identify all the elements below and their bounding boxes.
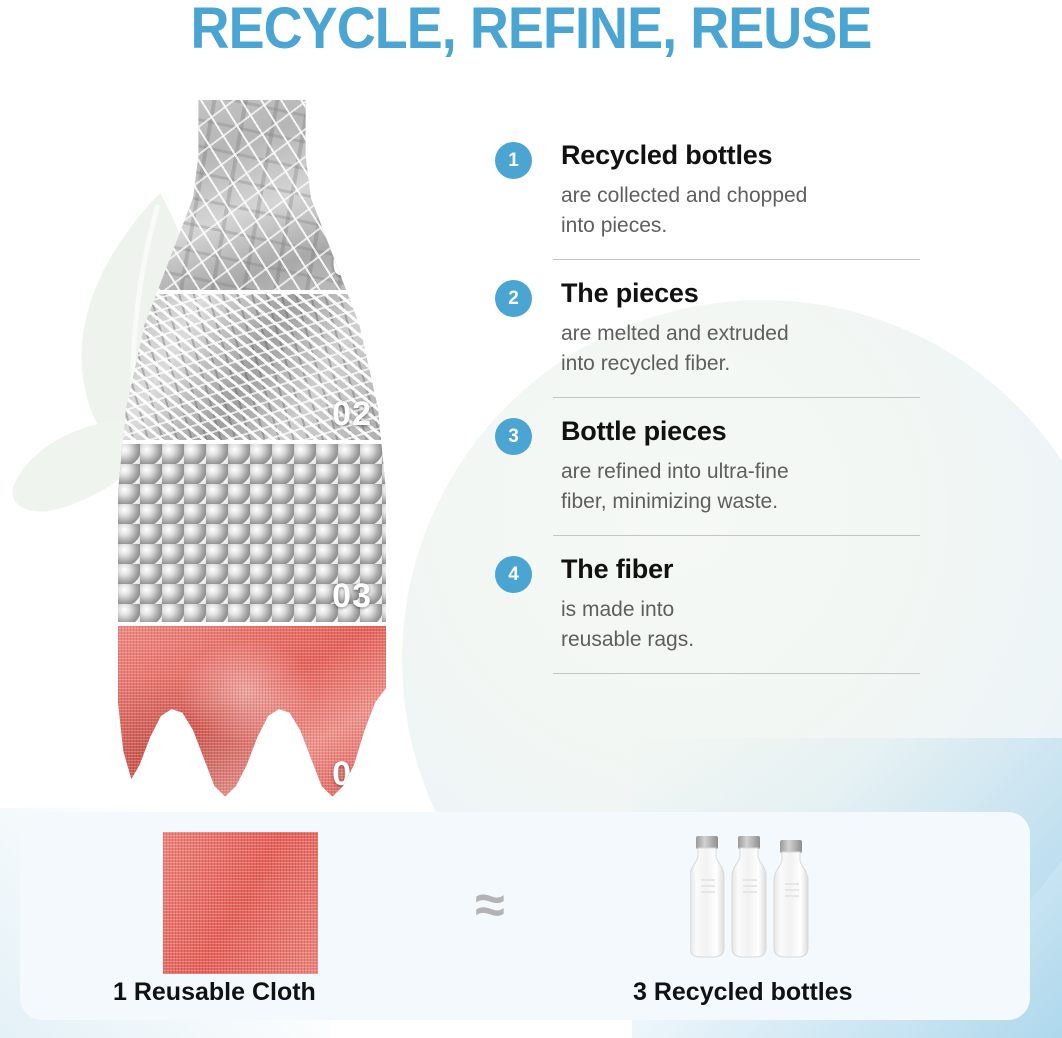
cloth-swatch [163, 832, 318, 974]
step-divider-4 [553, 673, 920, 674]
bottle-segment-03: 03 [118, 444, 386, 622]
step-desc-3: are refined into ultra-fine fiber, minim… [561, 457, 940, 517]
segment-divider-1 [118, 290, 386, 294]
step-divider-3 [553, 535, 920, 536]
infographic-page: RECYCLE, REFINE, REUSE 01 02 03 04 1 [0, 0, 1062, 1038]
segment-number-02: 02 [332, 395, 372, 434]
step-title-2: The pieces [561, 276, 940, 310]
equivalence-right-label: 3 Recycled bottles [633, 978, 853, 1007]
step-desc-1: are collected and chopped into pieces. [561, 181, 940, 241]
step-badge-4: 4 [495, 556, 532, 593]
step-desc-4: is made into reusable rags. [561, 595, 940, 655]
segment-number-04: 04 [332, 755, 372, 794]
step-item-2: 2 The pieces are melted and extruded int… [495, 276, 940, 398]
step-divider-2 [553, 397, 920, 398]
segment-number-01: 01 [332, 245, 372, 284]
step-badge-2: 2 [495, 280, 532, 317]
step-divider-1 [553, 259, 920, 260]
steps-list: 1 Recycled bottles are collected and cho… [495, 138, 940, 690]
segment-number-03: 03 [332, 577, 372, 616]
bottle-segment-02: 02 [118, 294, 386, 440]
segment-divider-3 [118, 622, 386, 626]
bottle-segment-01: 01 [118, 100, 386, 290]
approx-equals-icon: ≈ [455, 878, 525, 932]
bottle-diagram: 01 02 03 04 [118, 100, 386, 800]
equivalence-left-label: 1 Reusable Cloth [113, 978, 316, 1007]
step-title-1: Recycled bottles [561, 138, 940, 172]
segment-divider-2 [118, 440, 386, 444]
step-title-4: The fiber [561, 552, 940, 586]
bottle-segment-04: 04 [118, 626, 386, 800]
step-badge-1: 1 [495, 142, 532, 179]
step-item-4: 4 The fiber is made into reusable rags. [495, 552, 940, 674]
step-item-1: 1 Recycled bottles are collected and cho… [495, 138, 940, 260]
step-item-3: 3 Bottle pieces are refined into ultra-f… [495, 414, 940, 536]
page-title: RECYCLE, REFINE, REUSE [37, 0, 1025, 64]
step-badge-3: 3 [495, 418, 532, 455]
step-title-3: Bottle pieces [561, 414, 940, 448]
recycled-bottles-icon [690, 828, 830, 976]
step-desc-2: are melted and extruded into recycled fi… [561, 319, 940, 379]
